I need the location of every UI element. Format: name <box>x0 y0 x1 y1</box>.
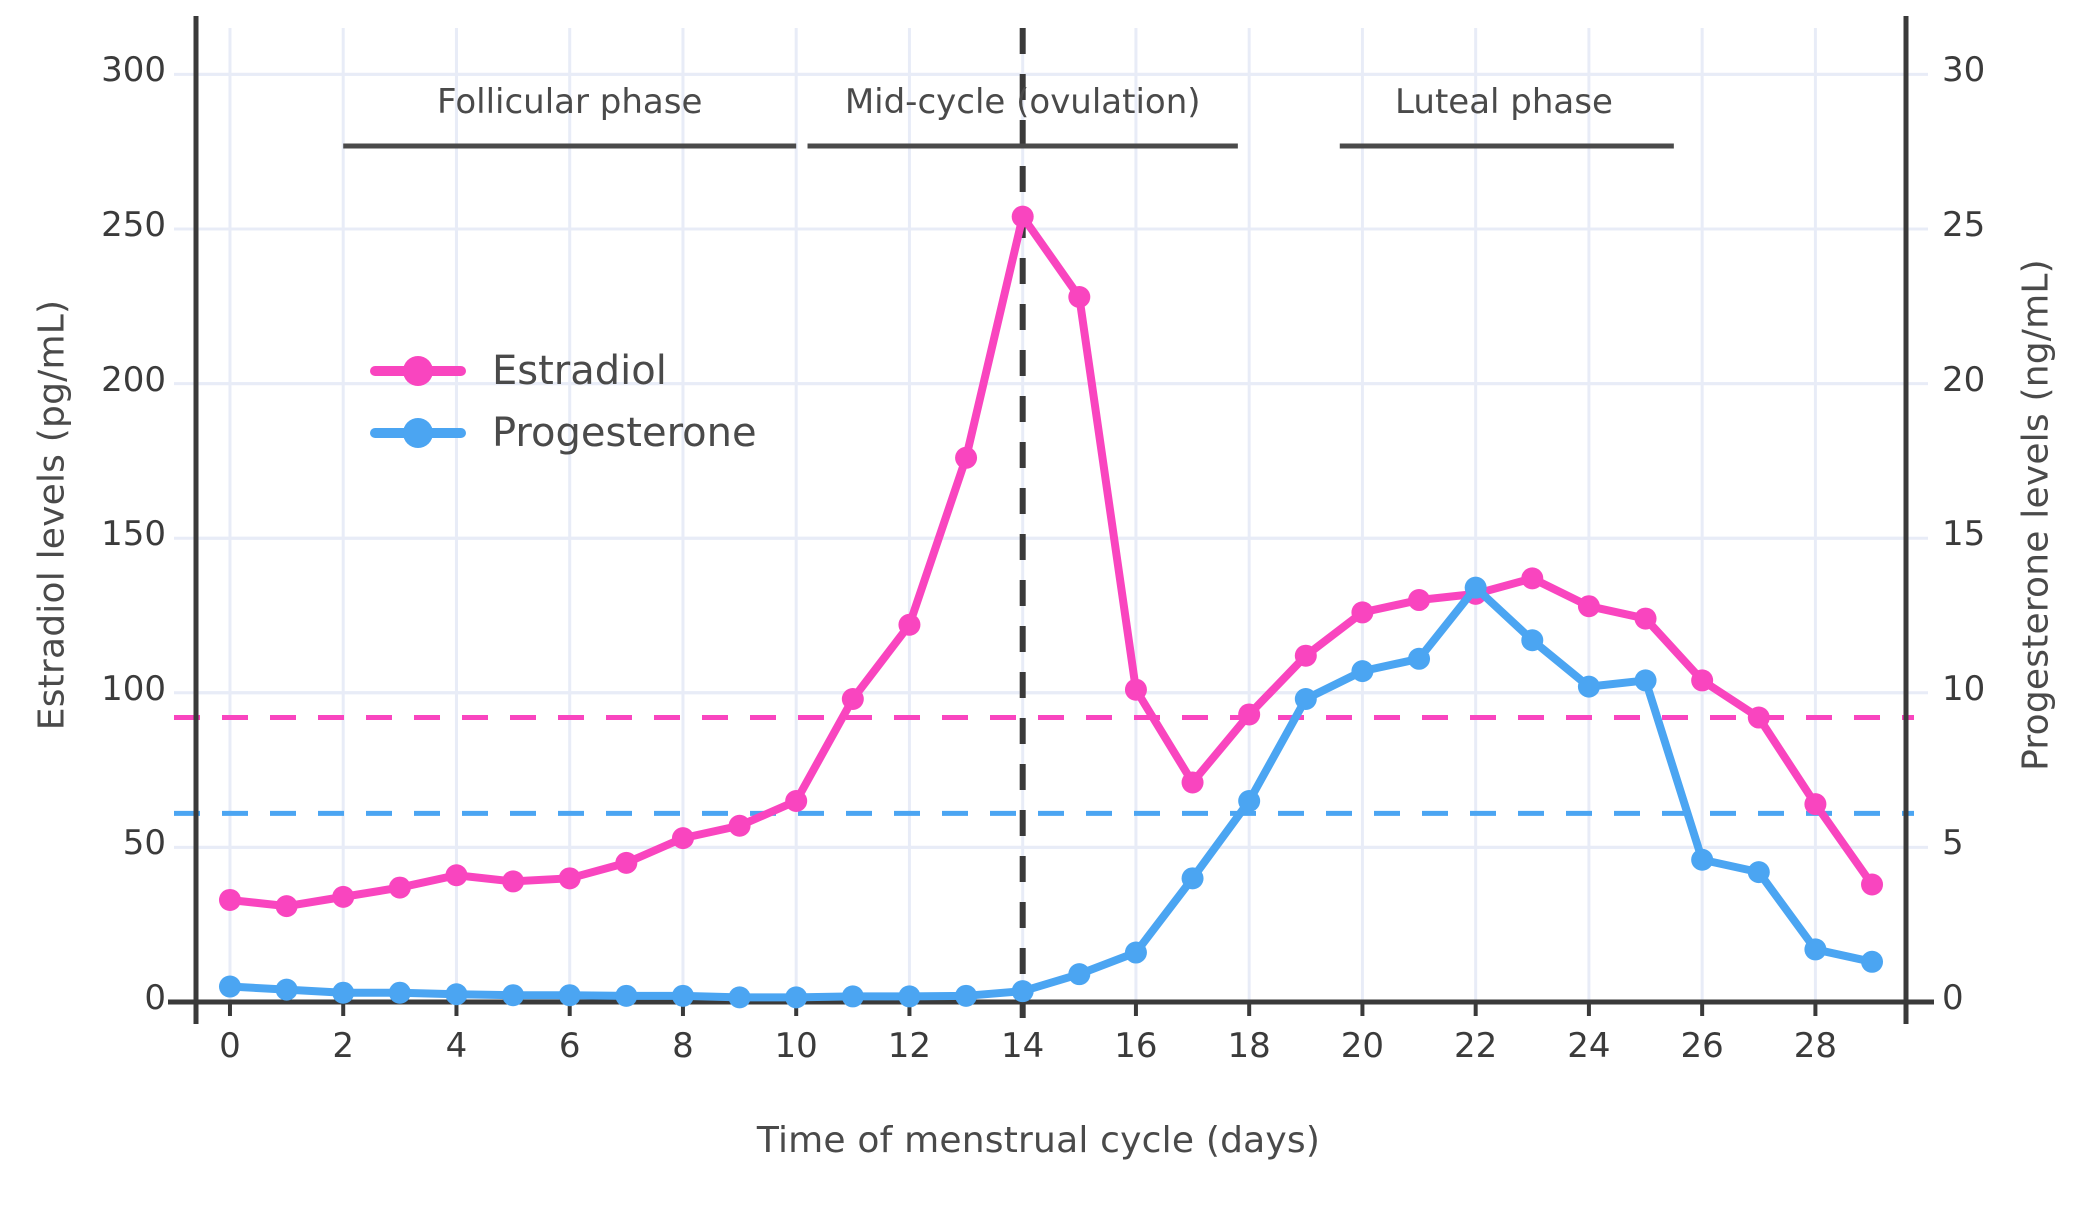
data-point-estradiol[interactable] <box>1578 595 1600 617</box>
x-tick: 2 <box>283 1026 403 1066</box>
data-point-estradiol[interactable] <box>1068 286 1090 308</box>
data-point-progesterone[interactable] <box>445 983 467 1005</box>
data-point-progesterone[interactable] <box>1408 648 1430 670</box>
data-point-estradiol[interactable] <box>219 889 241 911</box>
x-axis-title: Time of menstrual cycle (days) <box>0 1120 2077 1161</box>
data-point-progesterone[interactable] <box>1125 942 1147 964</box>
data-point-estradiol[interactable] <box>672 827 694 849</box>
x-tick: 14 <box>963 1026 1083 1066</box>
data-point-progesterone[interactable] <box>502 984 524 1006</box>
y-tick-left: 200 <box>6 360 166 400</box>
series-line-estradiol <box>230 217 1872 907</box>
legend-item[interactable]: Progesterone <box>370 402 757 464</box>
data-point-estradiol[interactable] <box>276 895 298 917</box>
x-tick: 4 <box>396 1026 516 1066</box>
data-point-progesterone[interactable] <box>955 985 977 1007</box>
legend-item[interactable]: Estradiol <box>370 340 757 402</box>
data-point-progesterone[interactable] <box>672 985 694 1007</box>
data-point-estradiol[interactable] <box>1238 703 1260 725</box>
y-tick-right: 5 <box>1942 823 2062 863</box>
data-point-progesterone[interactable] <box>1578 676 1600 698</box>
data-point-estradiol[interactable] <box>389 877 411 899</box>
data-point-estradiol[interactable] <box>1182 771 1204 793</box>
data-point-estradiol[interactable] <box>1691 669 1713 691</box>
legend-swatch-marker <box>403 418 433 448</box>
legend-label: Progesterone <box>492 410 757 456</box>
data-point-progesterone[interactable] <box>615 985 637 1007</box>
y-tick-right: 25 <box>1942 205 2062 245</box>
legend-swatch-line <box>370 428 466 438</box>
data-point-progesterone[interactable] <box>332 982 354 1004</box>
data-point-progesterone[interactable] <box>1012 980 1034 1002</box>
data-point-progesterone[interactable] <box>1182 867 1204 889</box>
data-point-estradiol[interactable] <box>1012 206 1034 228</box>
x-tick: 0 <box>170 1026 290 1066</box>
data-point-progesterone[interactable] <box>898 985 920 1007</box>
data-point-progesterone[interactable] <box>1238 790 1260 812</box>
data-point-progesterone[interactable] <box>785 986 807 1008</box>
data-point-progesterone[interactable] <box>219 976 241 998</box>
data-point-estradiol[interactable] <box>1861 874 1883 896</box>
y-tick-left: 50 <box>6 823 166 863</box>
data-point-progesterone[interactable] <box>1351 660 1373 682</box>
x-tick: 12 <box>849 1026 969 1066</box>
data-point-estradiol[interactable] <box>729 815 751 837</box>
data-point-estradiol[interactable] <box>445 864 467 886</box>
data-point-progesterone[interactable] <box>1748 861 1770 883</box>
data-point-estradiol[interactable] <box>1804 793 1826 815</box>
chart-legend: EstradiolProgesterone <box>370 340 757 464</box>
data-point-estradiol[interactable] <box>1521 567 1543 589</box>
y-tick-right: 20 <box>1942 360 2062 400</box>
data-point-progesterone[interactable] <box>559 984 581 1006</box>
data-point-estradiol[interactable] <box>1748 707 1770 729</box>
legend-swatch-marker <box>403 356 433 386</box>
data-point-progesterone[interactable] <box>276 979 298 1001</box>
x-tick: 20 <box>1302 1026 1422 1066</box>
y-tick-left: 300 <box>6 50 166 90</box>
data-point-estradiol[interactable] <box>898 614 920 636</box>
data-point-estradiol[interactable] <box>332 886 354 908</box>
data-point-progesterone[interactable] <box>1691 849 1713 871</box>
x-tick: 22 <box>1416 1026 1536 1066</box>
data-point-progesterone[interactable] <box>389 982 411 1004</box>
data-point-progesterone[interactable] <box>1295 688 1317 710</box>
y-tick-left: 150 <box>6 514 166 554</box>
x-tick: 8 <box>623 1026 743 1066</box>
x-tick: 28 <box>1755 1026 1875 1066</box>
y-tick-right: 0 <box>1942 978 2062 1018</box>
data-point-estradiol[interactable] <box>559 867 581 889</box>
data-point-estradiol[interactable] <box>615 852 637 874</box>
y-tick-left: 250 <box>6 205 166 245</box>
legend-swatch-line <box>370 366 466 376</box>
data-point-estradiol[interactable] <box>1351 601 1373 623</box>
x-tick: 18 <box>1189 1026 1309 1066</box>
data-point-estradiol[interactable] <box>785 790 807 812</box>
x-tick: 10 <box>736 1026 856 1066</box>
data-point-progesterone[interactable] <box>1635 669 1657 691</box>
x-tick: 16 <box>1076 1026 1196 1066</box>
data-point-estradiol[interactable] <box>1408 589 1430 611</box>
data-point-progesterone[interactable] <box>729 986 751 1008</box>
data-point-progesterone[interactable] <box>1521 629 1543 651</box>
data-point-estradiol[interactable] <box>1295 645 1317 667</box>
chart-canvas: Estradiol levels (pg/mL) Progesterone le… <box>0 0 2077 1208</box>
data-point-estradiol[interactable] <box>502 870 524 892</box>
data-point-estradiol[interactable] <box>1125 679 1147 701</box>
x-tick: 6 <box>510 1026 630 1066</box>
data-point-progesterone[interactable] <box>1804 938 1826 960</box>
y-tick-left: 0 <box>6 978 166 1018</box>
data-point-estradiol[interactable] <box>955 447 977 469</box>
y-tick-right: 10 <box>1942 669 2062 709</box>
y-tick-right: 30 <box>1942 50 2062 90</box>
data-point-progesterone[interactable] <box>842 985 864 1007</box>
x-tick: 26 <box>1642 1026 1762 1066</box>
y-tick-right: 15 <box>1942 514 2062 554</box>
y-tick-left: 100 <box>6 669 166 709</box>
data-point-estradiol[interactable] <box>842 688 864 710</box>
luteal-phase-label: Luteal phase <box>1184 82 1824 122</box>
legend-label: Estradiol <box>492 348 667 394</box>
data-point-progesterone[interactable] <box>1861 951 1883 973</box>
data-point-progesterone[interactable] <box>1068 963 1090 985</box>
data-point-estradiol[interactable] <box>1635 608 1657 630</box>
x-tick: 24 <box>1529 1026 1649 1066</box>
data-point-progesterone[interactable] <box>1465 577 1487 599</box>
series-line-progesterone <box>230 588 1872 998</box>
